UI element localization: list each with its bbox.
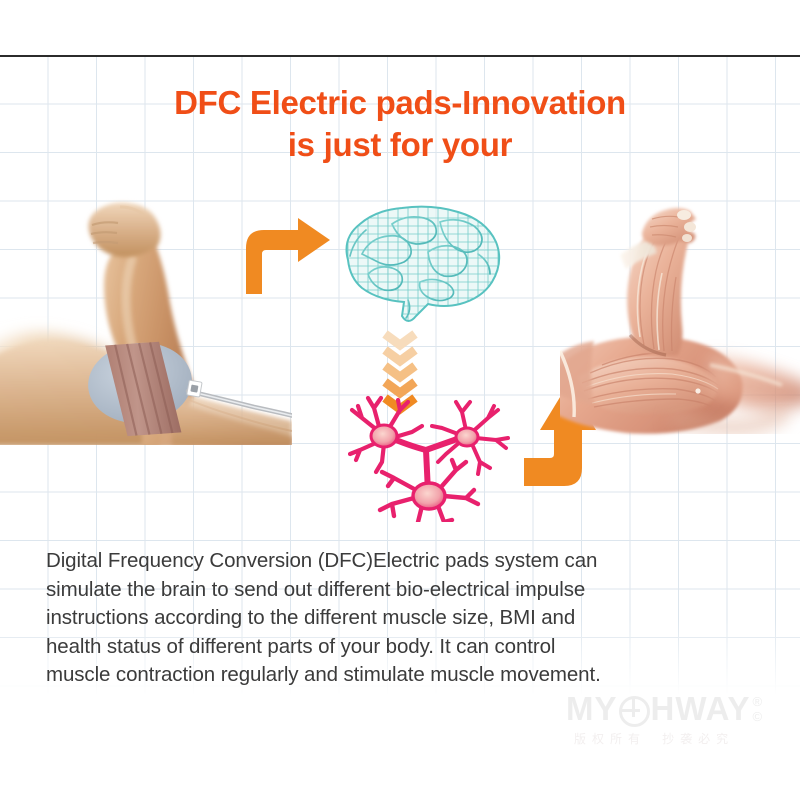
title-line-1: DFC Electric pads-Innovation bbox=[0, 82, 800, 124]
cn-char-3: 所 bbox=[610, 730, 628, 747]
neuron-network-image bbox=[348, 392, 524, 522]
muscle-anatomy-arm-image bbox=[560, 205, 800, 450]
watermark-brand-part2: HWAY bbox=[651, 692, 751, 726]
watermark-marks: ® © bbox=[752, 694, 763, 724]
cn-char-8: 究 bbox=[716, 730, 734, 747]
cn-char-6: 袭 bbox=[680, 730, 698, 747]
arrow-elbow-up-right-icon bbox=[240, 218, 332, 299]
cn-char-5: 抄 bbox=[662, 730, 680, 747]
poster-canvas: DFC Electric pads-Innovation is just for… bbox=[0, 0, 800, 800]
watermark-brand: MY HWAY ® © bbox=[566, 692, 788, 726]
copyright-symbol: © bbox=[752, 709, 763, 724]
cn-char-4: 有 bbox=[628, 730, 646, 747]
registered-symbol: ® bbox=[752, 694, 763, 709]
body-line-2: simulate the brain to send out different… bbox=[46, 576, 736, 605]
cn-char-1: 版 bbox=[574, 730, 592, 747]
cn-char-2: 权 bbox=[592, 730, 610, 747]
watermark-chinese-notice: 版 权 所 有 抄 袭 必 究 bbox=[566, 730, 788, 747]
body-line-1: Digital Frequency Conversion (DFC)Electr… bbox=[46, 547, 736, 576]
description-paragraph: Digital Frequency Conversion (DFC)Electr… bbox=[46, 547, 736, 690]
watermark-brand-part1: MY bbox=[566, 692, 618, 726]
watermark-spacer bbox=[646, 730, 662, 747]
brain-wireframe-image bbox=[332, 198, 512, 330]
watermark: MY HWAY ® © 版 权 所 有 抄 袭 必 究 bbox=[566, 692, 788, 752]
body-line-5: muscle contraction regularly and stimula… bbox=[46, 661, 736, 690]
body-line-3: instructions according to the different … bbox=[46, 604, 736, 633]
top-divider-line bbox=[0, 55, 800, 57]
page-title: DFC Electric pads-Innovation is just for… bbox=[0, 82, 800, 166]
title-line-2: is just for your bbox=[0, 124, 800, 166]
cn-char-7: 必 bbox=[698, 730, 716, 747]
globe-icon bbox=[619, 696, 650, 727]
body-line-4: health status of different parts of your… bbox=[46, 633, 736, 662]
